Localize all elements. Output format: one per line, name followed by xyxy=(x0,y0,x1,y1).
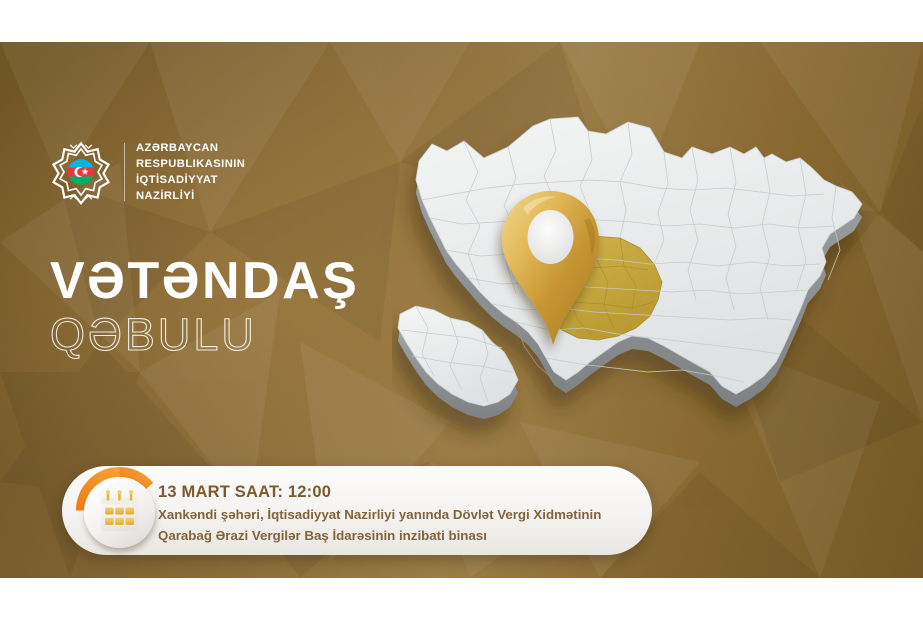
ministry-name-line-4: NAZİRLİYİ xyxy=(136,188,245,204)
event-details: 13 MART SAAT: 12:00 Xankəndi şəhəri, İqt… xyxy=(158,481,630,546)
calendar-badge xyxy=(70,461,169,560)
calendar-icon xyxy=(70,461,169,560)
poster-canvas: AZƏRBAYCAN RESPUBLIKASININ İQTİSADİYYAT … xyxy=(0,0,923,630)
headline-block: VƏTƏNDAŞ QƏBULU xyxy=(50,254,359,359)
event-info-bar: 13 MART SAAT: 12:00 Xankəndi şəhəri, İqt… xyxy=(62,466,652,555)
azerbaijan-emblem-icon xyxy=(47,138,115,206)
ministry-name: AZƏRBAYCAN RESPUBLIKASININ İQTİSADİYYAT … xyxy=(136,140,245,205)
ministry-name-line-2: RESPUBLIKASININ xyxy=(136,156,245,172)
headline-secondary: QƏBULU xyxy=(50,311,359,359)
event-address-line-1: Xankəndi şəhəri, İqtisadiyyat Nazirliyi … xyxy=(158,504,630,525)
event-time: 13 MART SAAT: 12:00 xyxy=(158,481,630,504)
azerbaijan-3d-map xyxy=(392,114,872,466)
ministry-name-line-3: İQTİSADİYYAT xyxy=(136,172,245,188)
headline-primary: VƏTƏNDAŞ xyxy=(50,254,359,308)
logo-divider xyxy=(124,143,125,201)
banner-background: AZƏRBAYCAN RESPUBLIKASININ İQTİSADİYYAT … xyxy=(0,42,923,578)
ministry-name-line-1: AZƏRBAYCAN xyxy=(136,140,245,156)
event-address-line-2: Qarabağ Ərazi Vergilər Baş İdarəsinin in… xyxy=(158,525,630,546)
map-svg xyxy=(392,114,872,466)
ministry-logo: AZƏRBAYCAN RESPUBLIKASININ İQTİSADİYYAT … xyxy=(47,138,245,206)
